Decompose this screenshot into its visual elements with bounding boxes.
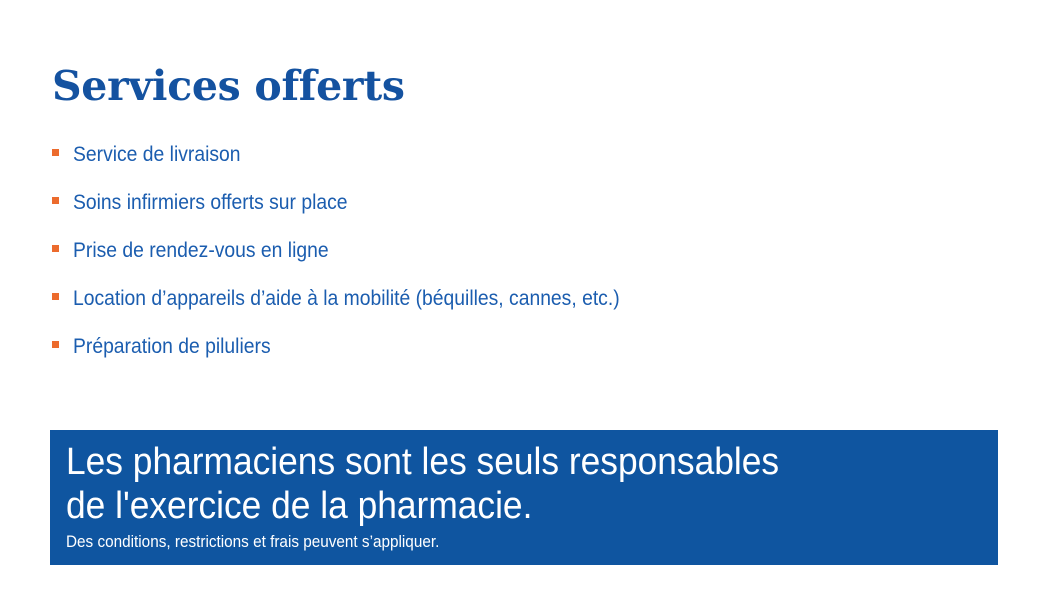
- square-bullet-icon: [52, 293, 59, 300]
- list-item: Location d’appareils d’aide à la mobilit…: [52, 286, 1012, 334]
- list-item-label: Location d’appareils d’aide à la mobilit…: [73, 286, 620, 312]
- list-item: Service de livraison: [52, 142, 1012, 190]
- square-bullet-icon: [52, 149, 59, 156]
- list-item-label: Prise de rendez-vous en ligne: [73, 238, 329, 264]
- list-item-label: Service de livraison: [73, 142, 241, 168]
- list-item: Préparation de piluliers: [52, 334, 1012, 382]
- callout-headline: Les pharmaciens sont les seuls responsab…: [66, 440, 933, 528]
- square-bullet-icon: [52, 341, 59, 348]
- slide-canvas: Services offerts Service de livraison So…: [0, 0, 1050, 600]
- disclaimer-callout-box: Les pharmaciens sont les seuls responsab…: [50, 430, 998, 565]
- list-item-label: Soins infirmiers offerts sur place: [73, 190, 348, 216]
- services-bullet-list: Service de livraison Soins infirmiers of…: [52, 142, 1012, 382]
- list-item: Soins infirmiers offerts sur place: [52, 190, 1012, 238]
- square-bullet-icon: [52, 245, 59, 252]
- page-title: Services offerts: [52, 62, 405, 110]
- list-item-label: Préparation de piluliers: [73, 334, 271, 360]
- callout-subline: Des conditions, restrictions et frais pe…: [66, 531, 905, 552]
- list-item: Prise de rendez-vous en ligne: [52, 238, 1012, 286]
- square-bullet-icon: [52, 197, 59, 204]
